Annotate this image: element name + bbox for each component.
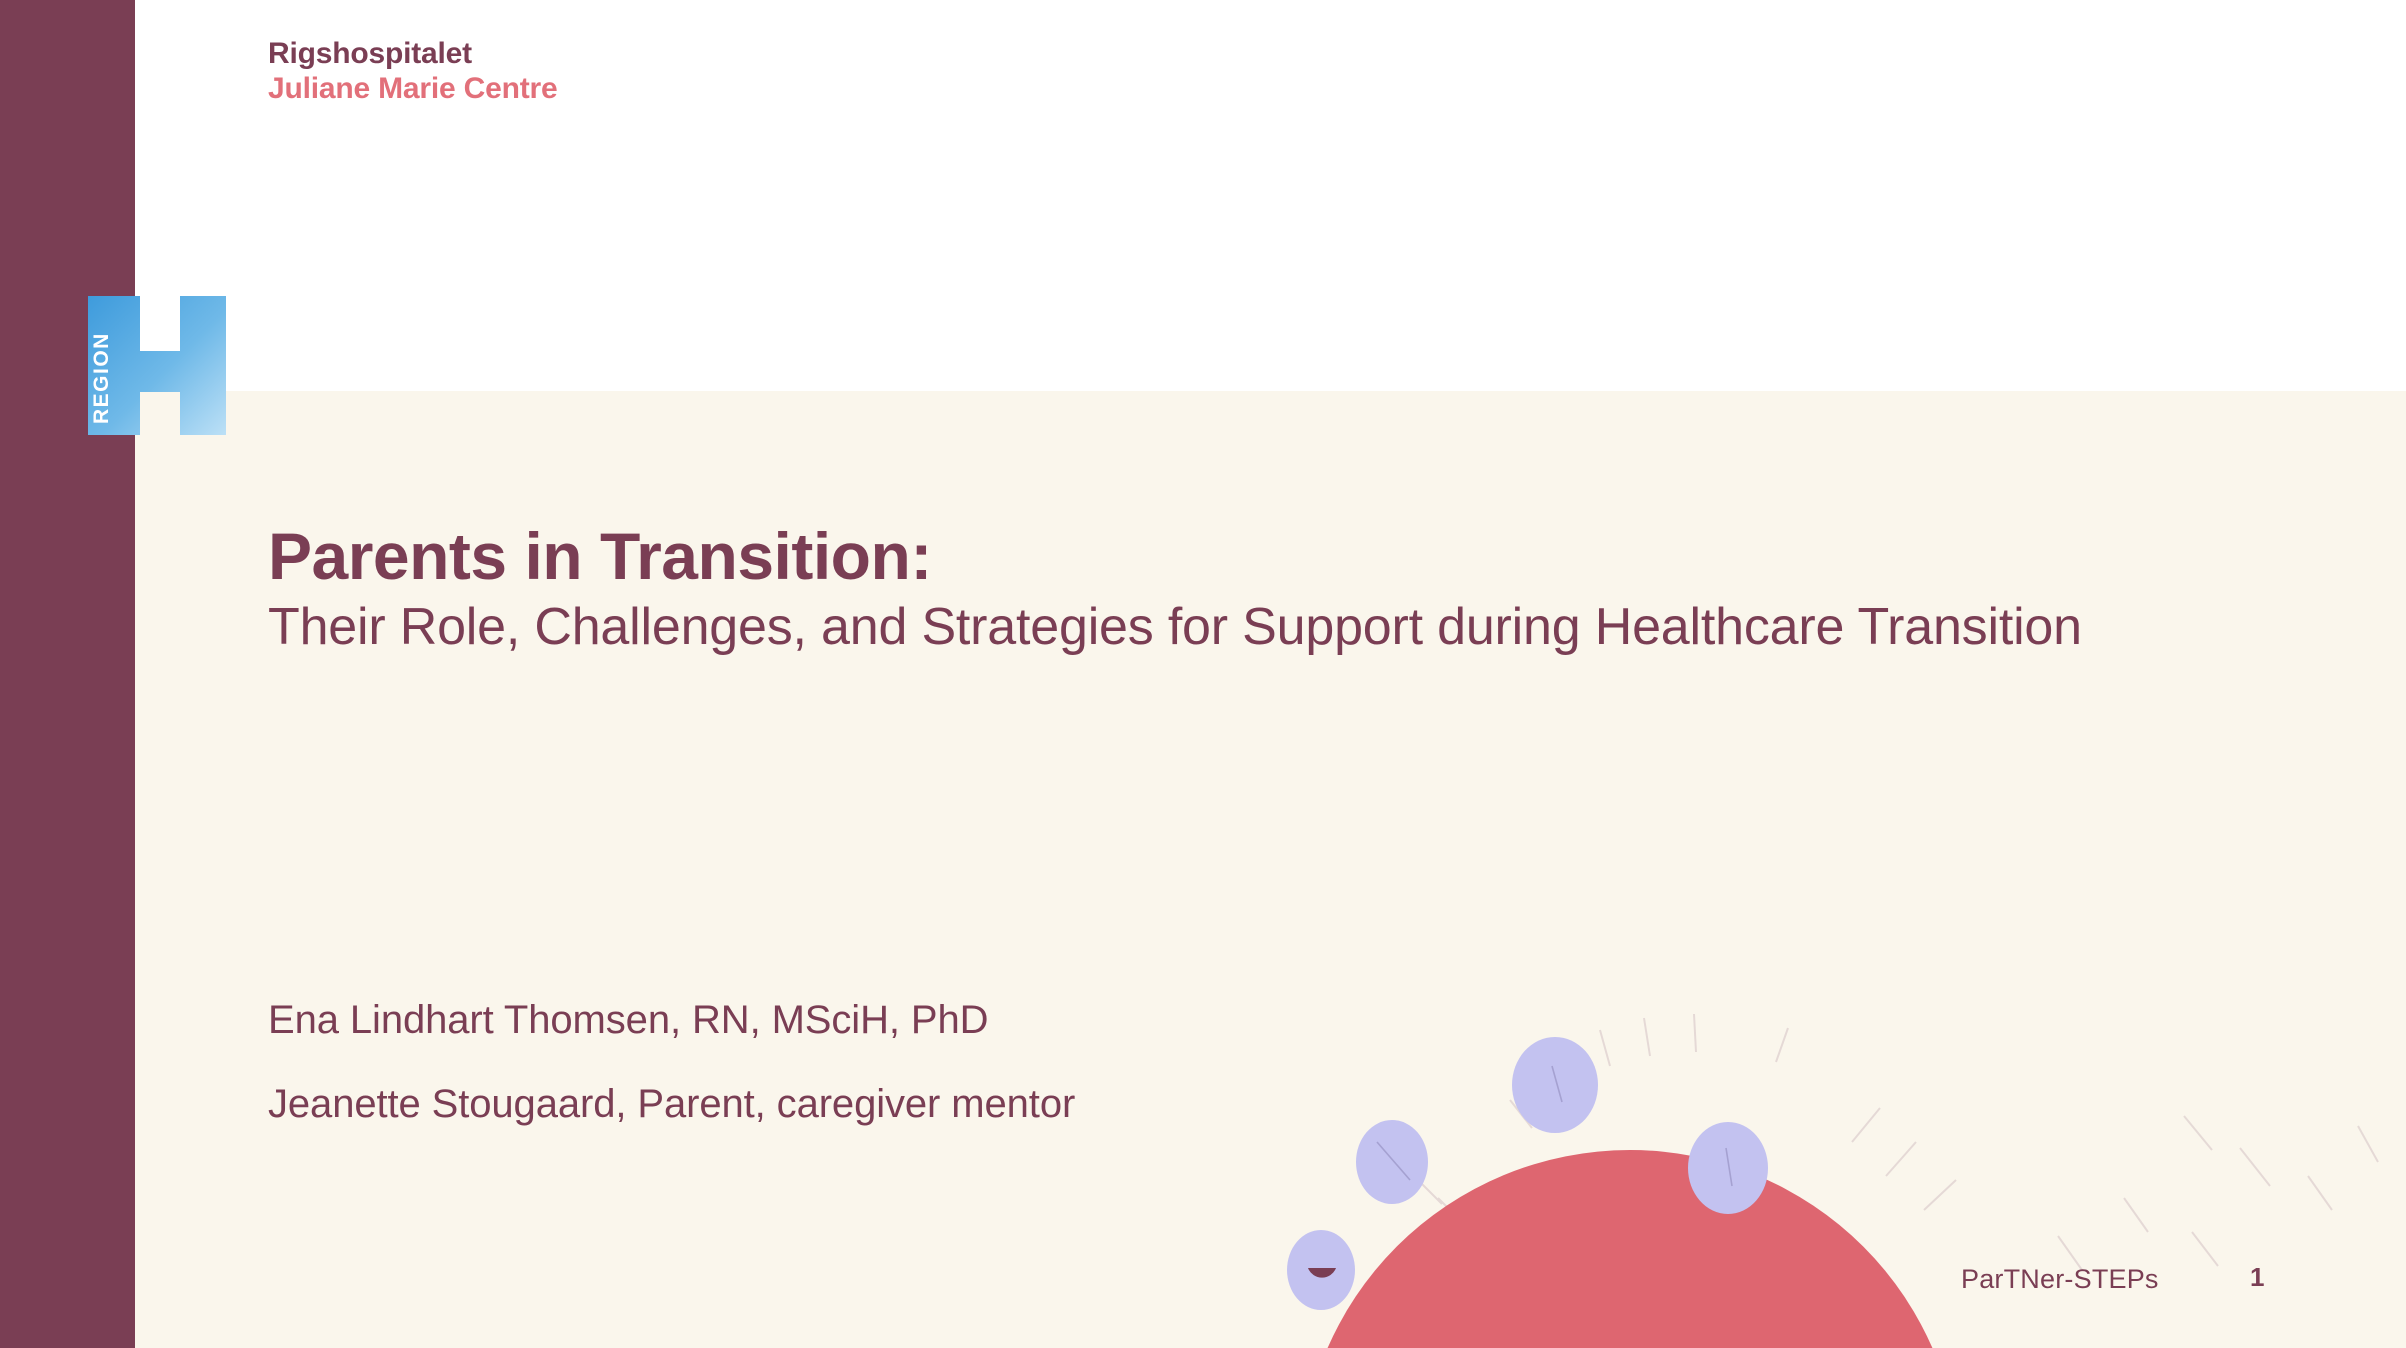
slide-subtitle: Their Role, Challenges, and Strategies f… xyxy=(268,598,2098,657)
author-primary: Ena Lindhart Thomsen, RN, MSciH, PhD xyxy=(268,1000,1075,1040)
organization-wordmark: Rigshospitalet Juliane Marie Centre xyxy=(268,36,557,107)
region-logo-text: REGION xyxy=(90,332,113,424)
slide-title: Parents in Transition: xyxy=(268,522,2168,592)
author-secondary: Jeanette Stougaard, Parent, caregiver me… xyxy=(268,1084,1075,1124)
footer-project-name: ParTNer-STEPs xyxy=(1961,1264,2159,1295)
left-accent-sidebar xyxy=(0,0,135,1348)
footer-page-number: 1 xyxy=(2250,1262,2264,1293)
organization-name-primary: Rigshospitalet xyxy=(268,36,557,71)
organization-name-secondary: Juliane Marie Centre xyxy=(268,71,557,106)
slide-footer: ParTNer-STEPs 1 xyxy=(1806,1228,2406,1348)
region-h-logo: REGION xyxy=(88,296,226,435)
author-list: Ena Lindhart Thomsen, RN, MSciH, PhD Jea… xyxy=(268,1000,1075,1124)
title-block: Parents in Transition: Their Role, Chall… xyxy=(268,522,2168,657)
presentation-slide: Rigshospitalet Juliane Marie Centre REGI… xyxy=(0,0,2406,1348)
